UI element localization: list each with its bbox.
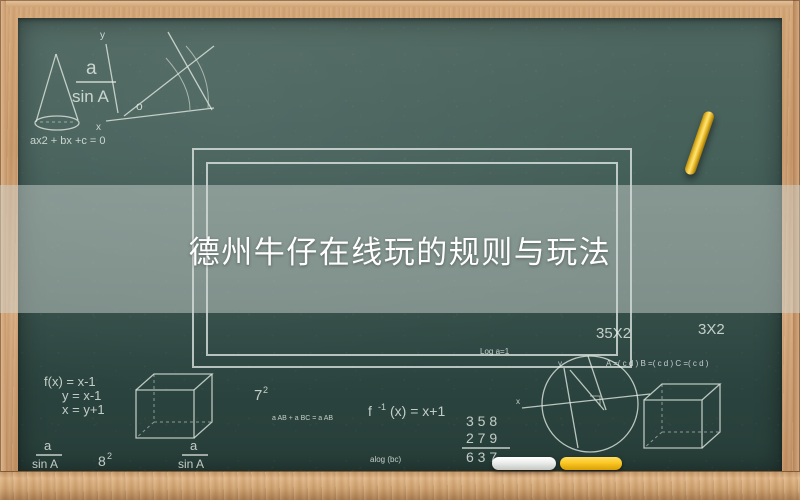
svg-text:-1: -1	[378, 402, 386, 412]
fraction-a-over-sinA-top: a sin A	[72, 58, 116, 106]
yellow-chalk-piece-icon	[560, 457, 622, 470]
eight-squared: 8 2	[98, 451, 112, 469]
svg-text:f: f	[368, 403, 372, 419]
svg-text:a: a	[190, 438, 198, 453]
svg-text:o: o	[136, 99, 143, 113]
svg-text:a: a	[44, 438, 52, 453]
cone-diagram	[35, 54, 79, 130]
chalk-tray	[0, 471, 800, 500]
log-label-right: Log a=1	[480, 347, 510, 356]
cube-wireframe-left	[136, 374, 212, 438]
label-3x2: 3X2	[698, 321, 725, 338]
circle-sector-diagram: y x	[516, 356, 650, 452]
power-seven-squared: 7 2	[254, 385, 268, 404]
fraction-a-over-sinA-bottomleft: a sin A	[32, 438, 62, 471]
fraction-a-over-sinA-center: a sin A	[178, 438, 208, 471]
frame-bevel-top	[0, 0, 800, 7]
title-overlay-band: 德州牛仔在线玩的规则与玩法	[0, 185, 800, 313]
yellow-chalk-stick-icon	[684, 110, 716, 176]
svg-text:2: 2	[107, 451, 112, 461]
quadratic-equation: ax2 + bx +c = 0	[30, 135, 106, 147]
svg-text:y: y	[558, 359, 562, 368]
inverse-function-equation: f -1 (x) = x+1	[368, 402, 445, 419]
svg-text:a: a	[86, 58, 97, 79]
function-equations-left: f(x) = x-1 y = x-1 x = y+1	[44, 374, 105, 417]
svg-text:y = x-1: y = x-1	[62, 388, 101, 403]
svg-text:(x) = x+1: (x) = x+1	[390, 403, 445, 419]
svg-text:2: 2	[263, 385, 268, 395]
svg-text:8: 8	[98, 453, 106, 469]
cube-wireframe-right	[644, 384, 720, 448]
page-title: 德州牛仔在线玩的规则与玩法	[189, 227, 612, 272]
svg-text:y: y	[100, 30, 105, 41]
svg-text:x: x	[96, 122, 101, 133]
angle-axes-diagram: y x o	[96, 30, 214, 133]
small-equation-left: a AB + a BC = a AB	[272, 415, 333, 422]
svg-text:2 7 9: 2 7 9	[466, 430, 497, 446]
svg-text:sin A: sin A	[178, 457, 204, 471]
svg-text:3 5 8: 3 5 8	[466, 413, 497, 429]
screenshot-root: a sin A y x o ax2 + bx +c = 0 f(x) = x-1	[0, 0, 800, 500]
matrix-notation: A =( c d ) B =( c d ) C =( c d )	[606, 359, 709, 368]
svg-text:x = y+1: x = y+1	[62, 402, 105, 417]
label-35x2: 35X2	[596, 325, 631, 342]
white-chalk-piece-icon	[492, 457, 556, 470]
log-expression-center: alog (bc)	[370, 455, 401, 464]
svg-text:sin A: sin A	[32, 457, 58, 471]
svg-text:sin A: sin A	[72, 87, 110, 106]
svg-text:f(x) = x-1: f(x) = x-1	[44, 374, 96, 389]
svg-text:x: x	[516, 397, 520, 406]
svg-text:7: 7	[254, 387, 262, 404]
